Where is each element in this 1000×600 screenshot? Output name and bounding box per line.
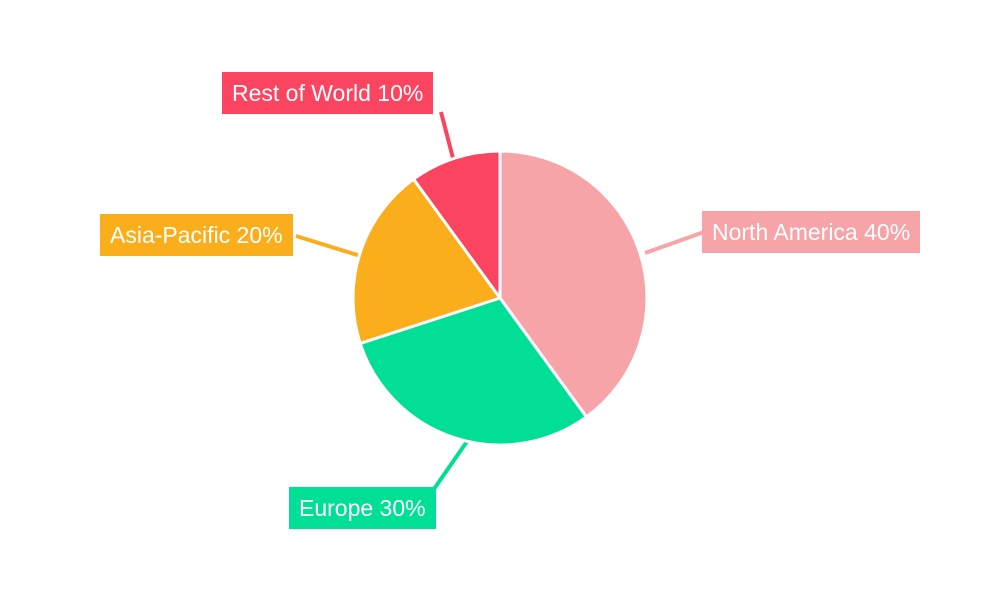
pie-label-rest-of-world[interactable]: Rest of World 10% [222, 72, 433, 114]
pie-label-asia-pacific-text: Asia-Pacific 20% [110, 214, 283, 256]
pie-chart-figure: North America 40% Europe 30% Asia-Pacifi… [0, 0, 1000, 600]
leader-line-north-america [645, 232, 704, 253]
pie-label-north-america[interactable]: North America 40% [702, 211, 920, 253]
pie-label-europe-text: Europe 30% [299, 487, 426, 529]
pie-label-rest-of-world-text: Rest of World 10% [232, 72, 423, 114]
leader-line-asia-pacific [296, 236, 367, 258]
pie-label-europe[interactable]: Europe 30% [289, 487, 436, 529]
pie-wedges [353, 151, 647, 445]
leader-line-europe [434, 440, 468, 489]
pie-chart-canvas [0, 0, 1000, 600]
pie-label-asia-pacific[interactable]: Asia-Pacific 20% [100, 214, 293, 256]
pie-label-north-america-text: North America 40% [712, 211, 910, 253]
